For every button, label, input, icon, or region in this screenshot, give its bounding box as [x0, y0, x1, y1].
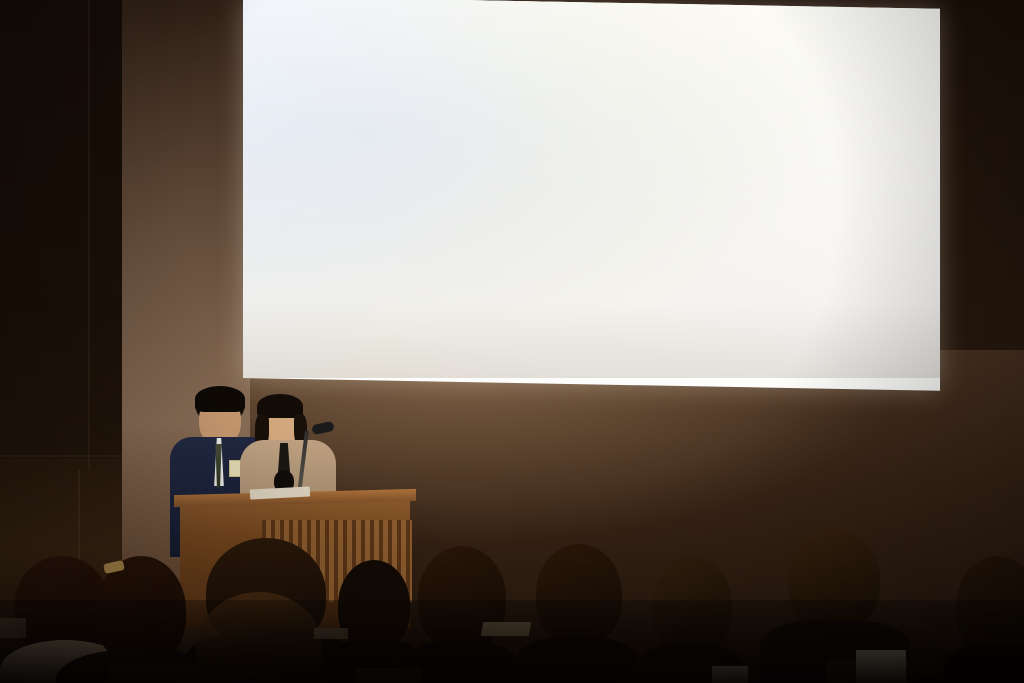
logo-japanese-text: まなび舎 — [783, 279, 895, 307]
tile-benchmark: ベンチマーク — [368, 240, 502, 312]
person-figure-2 — [584, 298, 595, 320]
tile-ai: AI 活用 — [642, 144, 750, 226]
tile-alliance-label: アライアンス — [499, 156, 617, 210]
chair-back-1 — [110, 664, 200, 683]
audience-laptop-3 — [0, 618, 26, 638]
tile-ma: 中小企業 M&A 事業承継・ 成長戦略 — [368, 138, 480, 230]
tile-koubo: 社内公募制度 で目指す、社員のキャリア自律 — [510, 248, 638, 324]
slide-header-text: 教育機関を事業化する工程 — [743, 0, 940, 6]
person-head-3 — [615, 290, 622, 297]
banner-keiei-label: 経営資源 — [460, 114, 522, 136]
box-jisshi: 実施計画書の作成 — [751, 44, 913, 100]
wall-seam — [88, 0, 90, 470]
chair-back-2 — [356, 668, 422, 683]
photo-scene: 教育機関を事業化する工程 項目の洗い出し 全ての可能性を議論 — [0, 0, 1024, 683]
tile-koubo-sub-label: で目指す、社員のキャリア自律 — [514, 275, 635, 287]
person-head-1 — [536, 290, 543, 297]
tile-alliance: アライアンス — [488, 134, 628, 231]
projection-screen: 教育機関を事業化する工程 項目の洗い出し 全ての可能性を議論 — [243, 0, 940, 391]
tile-gaibu: 外部登用 をうまく活用して 組織力を高めるためには — [644, 256, 772, 330]
person-head-2 — [586, 292, 593, 299]
audience-paper-1 — [856, 650, 906, 683]
logo-vietnamese-text: lớp học tiếng nhật — [791, 265, 887, 278]
audience-paper-2 — [712, 666, 748, 683]
audience-laptop-2 — [314, 628, 348, 639]
person-figure-1 — [534, 296, 545, 320]
ai-icon-cube-2 — [732, 158, 742, 167]
arrow-down-right-icon — [799, 108, 863, 130]
wall-seam-horizontal — [0, 455, 122, 457]
person-head-5 — [685, 287, 691, 293]
tile-ma-big-label: M&A — [368, 182, 480, 199]
red-text-line-1: 外国人のためになる — [749, 154, 902, 176]
person-figure-4 — [664, 286, 673, 312]
tile-ma-sub-label: 事業承継・ 成長戦略 — [368, 200, 480, 206]
red-text-line-3: 具現化 — [749, 210, 800, 232]
logo-manabiya: lớp học tiếng nhật まなび舎 — [755, 250, 923, 322]
tile-benchmark-label: ベンチマーク — [376, 247, 490, 273]
person-figure-5 — [684, 292, 692, 316]
flow-box-kanousei: 全ての可能性を議論 — [303, 40, 505, 82]
flow-box-kanousei-label: 全ての可能性を議論 — [341, 52, 467, 71]
red-text-line-2: 日本語教育機関の — [749, 182, 885, 204]
banner-keiei: 経営資源 — [403, 107, 579, 144]
ai-icon-cube-1 — [648, 152, 658, 161]
slide-header-rule — [713, 18, 938, 24]
tile-ai-label: AI — [664, 172, 688, 198]
tile-koubo-label: 社内公募制度 — [514, 252, 618, 273]
resource-panel: 中小企業 M&A 事業承継・ 成長戦略 アライアンス — [300, 124, 729, 350]
person-head-4 — [665, 281, 672, 288]
box-jisshi-label: 実施計画書の作成 — [770, 62, 894, 82]
person-figure-3 — [614, 296, 624, 320]
slide-content: 教育機関を事業化する工程 項目の洗い出し 全ての可能性を議論 — [243, 0, 940, 378]
ai-icon-cube-4 — [728, 210, 739, 220]
ai-icon-cube-3 — [654, 208, 665, 218]
audience-laptop-1 — [481, 622, 531, 636]
